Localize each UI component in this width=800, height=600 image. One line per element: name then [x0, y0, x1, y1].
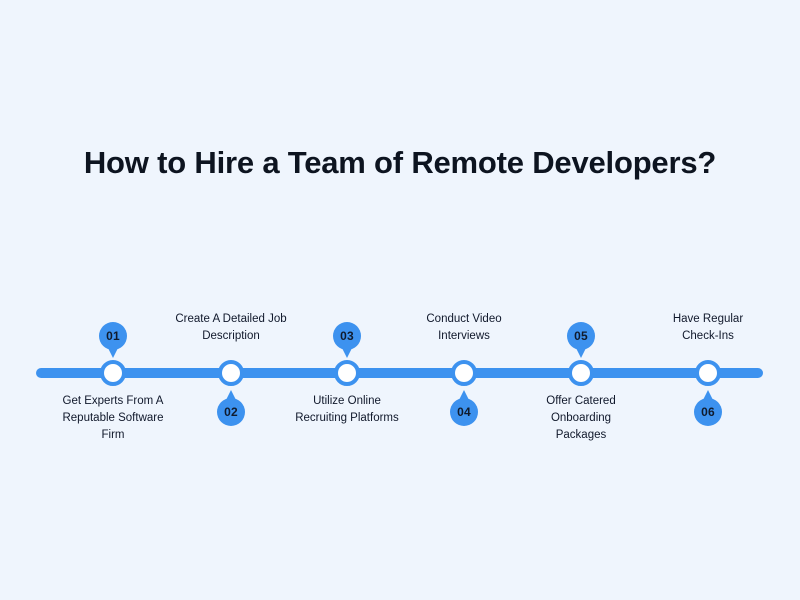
- step-node-04[interactable]: [451, 360, 477, 386]
- step-node-03[interactable]: [334, 360, 360, 386]
- caption-line: Recruiting Platforms: [267, 410, 427, 427]
- step-badge-06: 06: [694, 398, 722, 426]
- caption-line: Check-Ins: [628, 328, 788, 345]
- caption-line: Conduct Video: [384, 311, 544, 328]
- step-badge-01: 01: [99, 322, 127, 350]
- timeline: 01 Get Experts From A Reputable Software…: [0, 0, 800, 600]
- caption-line: Utilize Online: [267, 393, 427, 410]
- caption-line: Reputable Software: [33, 410, 193, 427]
- step-caption-01: Get Experts From A Reputable Software Fi…: [33, 393, 193, 444]
- step-caption-06: Have Regular Check-Ins: [628, 311, 788, 345]
- timeline-rail: [36, 368, 763, 378]
- step-caption-02: Create A Detailed Job Description: [151, 311, 311, 345]
- caption-line: Description: [151, 328, 311, 345]
- caption-line: Packages: [501, 427, 661, 444]
- caption-line: Onboarding: [501, 410, 661, 427]
- step-caption-03: Utilize Online Recruiting Platforms: [267, 393, 427, 427]
- caption-line: Get Experts From A: [33, 393, 193, 410]
- step-node-01[interactable]: [100, 360, 126, 386]
- step-node-06[interactable]: [695, 360, 721, 386]
- step-badge-04: 04: [450, 398, 478, 426]
- caption-line: Firm: [33, 427, 193, 444]
- step-node-05[interactable]: [568, 360, 594, 386]
- step-badge-05: 05: [567, 322, 595, 350]
- step-caption-05: Offer Catered Onboarding Packages: [501, 393, 661, 444]
- infographic-canvas: How to Hire a Team of Remote Developers?…: [0, 0, 800, 600]
- step-caption-04: Conduct Video Interviews: [384, 311, 544, 345]
- step-badge-02: 02: [217, 398, 245, 426]
- caption-line: Have Regular: [628, 311, 788, 328]
- caption-line: Offer Catered: [501, 393, 661, 410]
- step-node-02[interactable]: [218, 360, 244, 386]
- caption-line: Create A Detailed Job: [151, 311, 311, 328]
- step-badge-03: 03: [333, 322, 361, 350]
- caption-line: Interviews: [384, 328, 544, 345]
